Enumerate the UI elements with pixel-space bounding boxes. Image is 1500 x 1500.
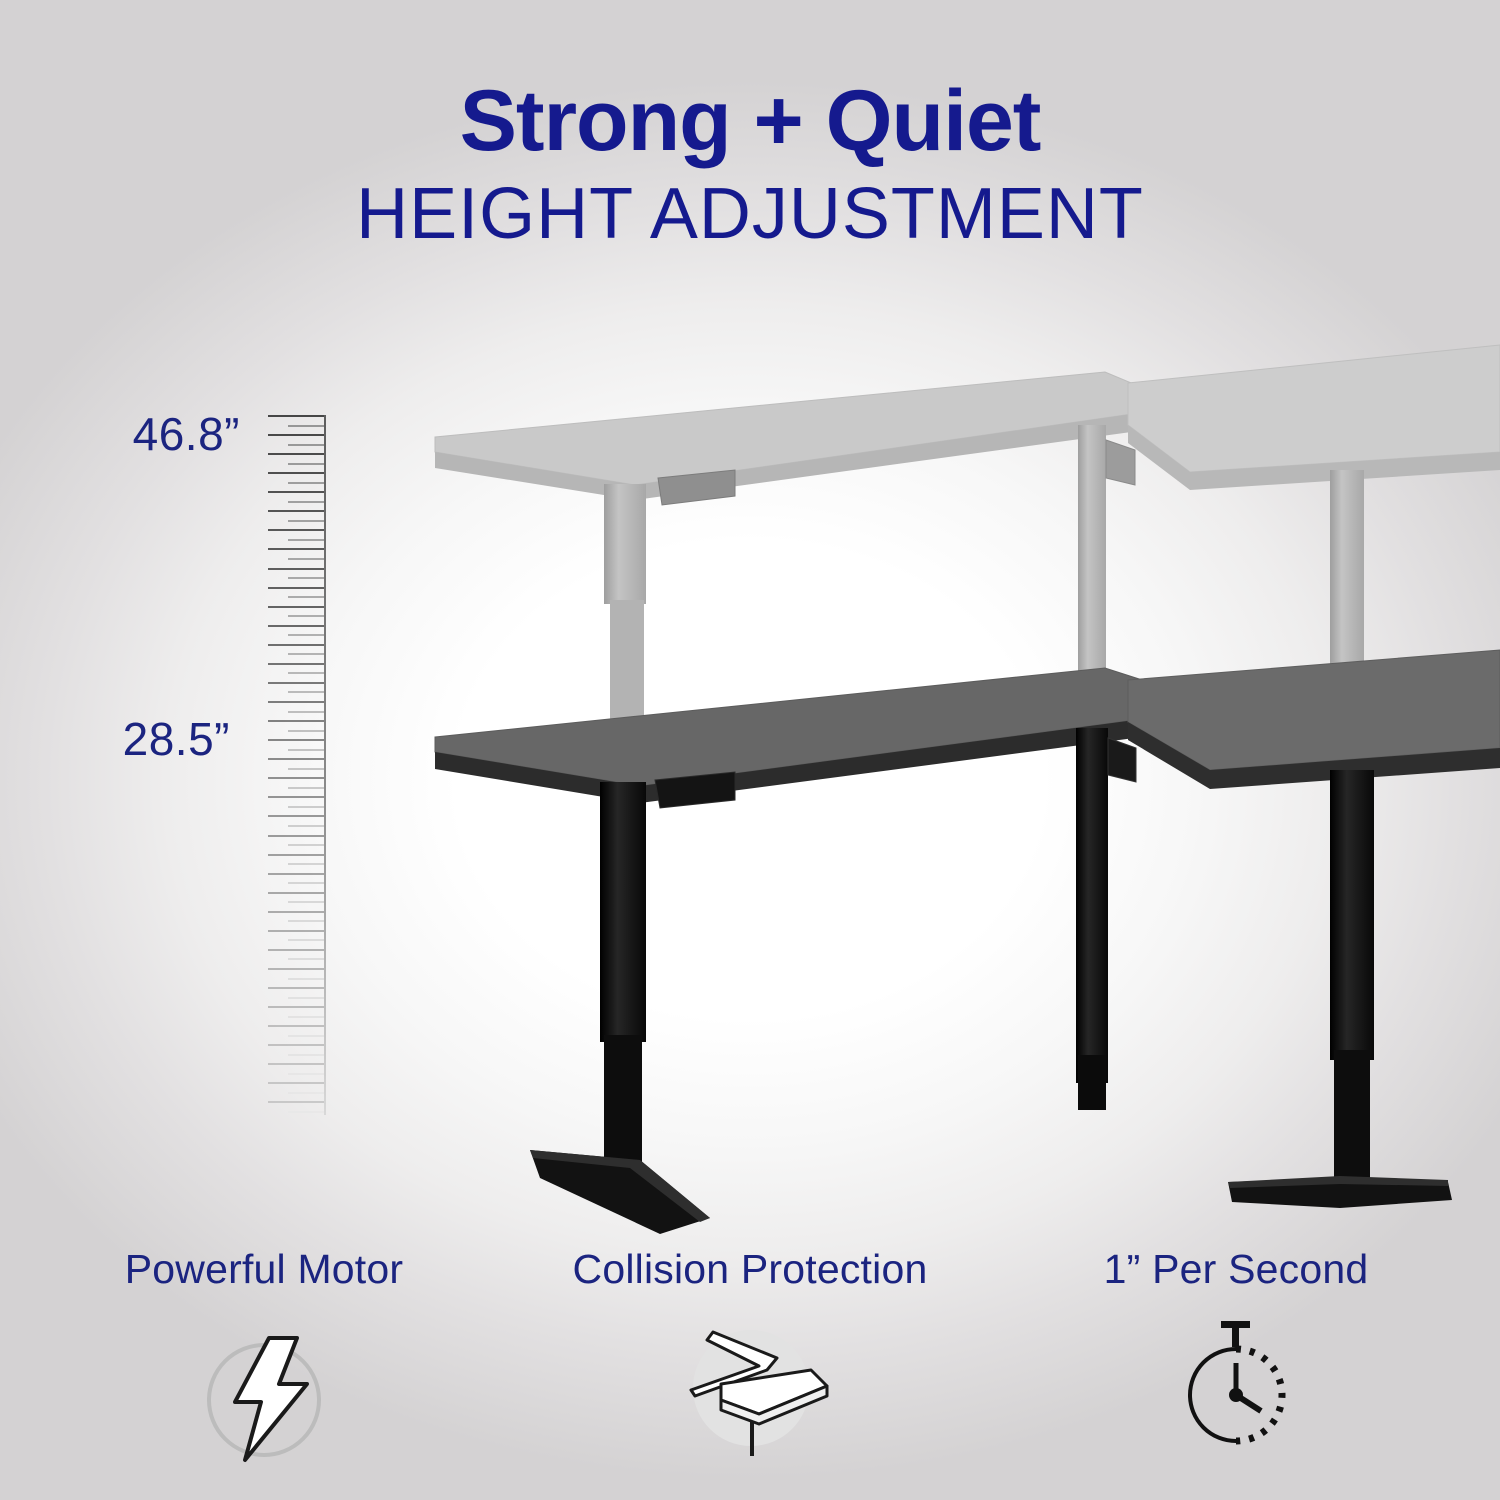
ruler-minor-tick bbox=[288, 539, 324, 541]
raised-desk-main-edge bbox=[435, 410, 1160, 500]
raised-desk-left-leg-upper bbox=[604, 484, 646, 604]
ruler-minor-tick bbox=[288, 787, 324, 789]
ruler-minor-tick bbox=[288, 920, 324, 922]
ruler-major-tick bbox=[268, 663, 324, 665]
ruler-major-tick bbox=[268, 491, 324, 493]
lightning-bolt-icon bbox=[34, 1307, 494, 1482]
ruler-major-tick bbox=[268, 987, 324, 989]
ruler-minor-tick bbox=[288, 1073, 324, 1075]
ruler-minor-tick bbox=[288, 615, 324, 617]
ruler-major-tick bbox=[268, 529, 324, 531]
ruler-minor-tick bbox=[288, 653, 324, 655]
ruler-minor-tick bbox=[288, 901, 324, 903]
clock-speed-icon bbox=[1006, 1307, 1466, 1482]
raised-desk-control-panel bbox=[658, 470, 735, 505]
ruler-major-tick bbox=[268, 1025, 324, 1027]
lowered-desk-right-leg-lower bbox=[1334, 1050, 1370, 1180]
ruler-major-tick bbox=[268, 1006, 324, 1008]
ruler-major-tick bbox=[268, 854, 324, 856]
ruler-major-tick bbox=[268, 606, 324, 608]
ruler-major-tick bbox=[268, 1082, 324, 1084]
ruler-minor-tick bbox=[288, 863, 324, 865]
ruler-minor-tick bbox=[288, 463, 324, 465]
ruler-minor-tick bbox=[288, 1035, 324, 1037]
ruler-major-tick bbox=[268, 510, 324, 512]
ruler-major-tick bbox=[268, 682, 324, 684]
page-subtitle: HEIGHT ADJUSTMENT bbox=[0, 178, 1500, 250]
lowered-l-desk bbox=[435, 650, 1500, 1234]
ruler-minor-tick bbox=[288, 691, 324, 693]
ruler-tick-group bbox=[264, 415, 324, 1115]
ruler-minor-tick bbox=[288, 577, 324, 579]
ruler-major-tick bbox=[268, 568, 324, 570]
ruler-major-tick bbox=[268, 1063, 324, 1065]
headline-block: Strong + Quiet HEIGHT ADJUSTMENT bbox=[0, 78, 1500, 250]
ruler-major-tick bbox=[268, 625, 324, 627]
lowered-desk-left-foot bbox=[530, 1150, 710, 1234]
feature-collision-protection: Collision Protection bbox=[520, 1246, 980, 1482]
ruler-minor-tick bbox=[288, 634, 324, 636]
feature-speed: 1” Per Second bbox=[1006, 1246, 1466, 1482]
ruler-minor-tick bbox=[288, 482, 324, 484]
ruler-major-tick bbox=[268, 815, 324, 817]
desk-collision-icon bbox=[520, 1307, 980, 1482]
lowered-desk-main-edge bbox=[435, 712, 1195, 803]
height-scale-ruler bbox=[264, 415, 326, 1115]
lowered-desk-left-foot-top bbox=[530, 1150, 710, 1222]
ruler-minor-tick bbox=[288, 939, 324, 941]
feature-label-collision-protection: Collision Protection bbox=[520, 1246, 980, 1293]
ruler-major-tick bbox=[268, 720, 324, 722]
ruler-major-tick bbox=[268, 835, 324, 837]
lowered-desk-corner-leg-a-lower bbox=[1078, 1055, 1106, 1110]
ruler-minor-tick bbox=[288, 1054, 324, 1056]
lowered-desk-corner-leg-a bbox=[1076, 728, 1108, 1083]
ruler-major-tick bbox=[268, 911, 324, 913]
lowered-desk-right-leg-upper bbox=[1330, 770, 1374, 1060]
ruler-minor-tick bbox=[288, 520, 324, 522]
ruler-minor-tick bbox=[288, 749, 324, 751]
raised-l-desk bbox=[435, 345, 1500, 720]
ruler-major-tick bbox=[268, 758, 324, 760]
ruler-major-tick bbox=[268, 930, 324, 932]
raised-desk-return-top bbox=[1128, 345, 1500, 472]
lowered-desk-right-foot-top bbox=[1228, 1176, 1448, 1188]
ruler-major-tick bbox=[268, 1044, 324, 1046]
ruler-minor-tick bbox=[288, 596, 324, 598]
ruler-major-tick bbox=[268, 434, 324, 436]
ruler-major-tick bbox=[268, 873, 324, 875]
ruler-minor-tick bbox=[288, 882, 324, 884]
ruler-major-tick bbox=[268, 949, 324, 951]
ruler-minor-tick bbox=[288, 501, 324, 503]
min-height-label: 28.5” bbox=[10, 712, 230, 766]
raised-desk-main-top bbox=[435, 372, 1160, 485]
ruler-minor-tick bbox=[288, 1092, 324, 1094]
feature-row: Powerful Motor Collision Protection bbox=[0, 1246, 1500, 1482]
ruler-minor-tick bbox=[288, 978, 324, 980]
raised-desk-left-leg-lower bbox=[610, 600, 644, 720]
ruler-major-tick bbox=[268, 701, 324, 703]
ruler-major-tick bbox=[268, 415, 324, 417]
ruler-minor-tick bbox=[288, 558, 324, 560]
ruler-minor-tick bbox=[288, 997, 324, 999]
ruler-minor-tick bbox=[288, 711, 324, 713]
ruler-major-tick bbox=[268, 739, 324, 741]
ruler-minor-tick bbox=[288, 444, 324, 446]
page-title: Strong + Quiet bbox=[0, 78, 1500, 164]
infographic-canvas: Strong + Quiet HEIGHT ADJUSTMENT 46.8” 2… bbox=[0, 0, 1500, 1500]
ruler-minor-tick bbox=[288, 425, 324, 427]
ruler-minor-tick bbox=[288, 806, 324, 808]
ruler-major-tick bbox=[268, 777, 324, 779]
feature-label-speed: 1” Per Second bbox=[1006, 1246, 1466, 1293]
max-height-label: 46.8” bbox=[20, 407, 240, 461]
lowered-desk-left-leg-upper bbox=[600, 782, 646, 1042]
ruler-major-tick bbox=[268, 548, 324, 550]
raised-desk-corner-bracket bbox=[1106, 440, 1135, 485]
ruler-minor-tick bbox=[288, 1111, 324, 1113]
ruler-major-tick bbox=[268, 796, 324, 798]
ruler-major-tick bbox=[268, 644, 324, 646]
ruler-minor-tick bbox=[288, 730, 324, 732]
ruler-major-tick bbox=[268, 968, 324, 970]
raised-desk-corner-leg-a bbox=[1078, 425, 1106, 675]
lowered-desk-main-top bbox=[435, 668, 1195, 786]
ruler-major-tick bbox=[268, 472, 324, 474]
ruler-minor-tick bbox=[288, 672, 324, 674]
raised-desk-return-edge bbox=[1128, 425, 1500, 490]
lowered-desk-control-panel bbox=[655, 772, 735, 808]
ruler-minor-tick bbox=[288, 844, 324, 846]
lowered-desk-left-leg-lower bbox=[604, 1035, 642, 1165]
ruler-major-tick bbox=[268, 892, 324, 894]
ruler-major-tick bbox=[268, 453, 324, 455]
ruler-major-tick bbox=[268, 1101, 324, 1103]
feature-label-powerful-motor: Powerful Motor bbox=[34, 1246, 494, 1293]
lowered-desk-right-foot bbox=[1228, 1178, 1452, 1208]
ruler-minor-tick bbox=[288, 1016, 324, 1018]
ruler-major-tick bbox=[268, 587, 324, 589]
lowered-desk-corner-bracket bbox=[1108, 738, 1136, 782]
ruler-minor-tick bbox=[288, 958, 324, 960]
raised-desk-corner-leg-b bbox=[1330, 470, 1364, 680]
ruler-edge-line bbox=[324, 415, 326, 1115]
lowered-desk-return-edge bbox=[1128, 722, 1500, 789]
feature-powerful-motor: Powerful Motor bbox=[34, 1246, 494, 1482]
ruler-minor-tick bbox=[288, 768, 324, 770]
lowered-desk-return-top bbox=[1128, 650, 1500, 770]
ruler-minor-tick bbox=[288, 825, 324, 827]
